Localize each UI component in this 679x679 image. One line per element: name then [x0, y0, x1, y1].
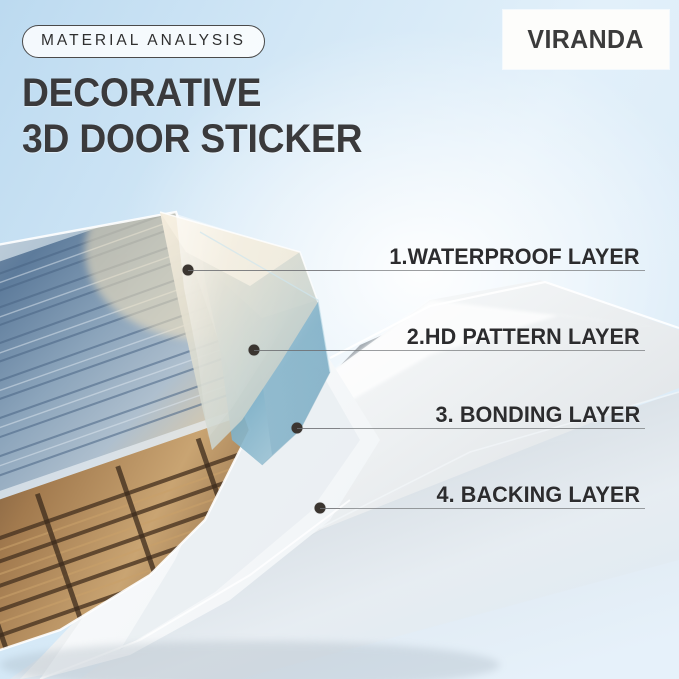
callout-rule-4 [340, 508, 645, 509]
callout-label-1: 1.WATERPROOF LAYER [390, 244, 640, 270]
title-line-2: 3D DOOR STICKER [22, 116, 362, 162]
callout-leader-line-1 [188, 270, 340, 271]
brand-logo-box: VIRANDA [503, 10, 669, 69]
brand-name: VIRANDA [528, 24, 644, 55]
page-title: DECORATIVE 3D DOOR STICKER [22, 70, 362, 163]
callout-rule-3 [340, 428, 645, 429]
poster-canvas: MATERIAL ANALYSIS DECORATIVE 3D DOOR STI… [0, 0, 679, 679]
eyebrow-badge: MATERIAL ANALYSIS [22, 25, 265, 58]
callout-leader-line-2 [254, 350, 340, 351]
title-line-1: DECORATIVE [22, 71, 261, 115]
callout-leader-line-3 [297, 428, 340, 429]
callout-leader-line-4 [320, 508, 340, 509]
callout-label-3: 3. BONDING LAYER [435, 402, 640, 428]
callout-label-4: 4. BACKING LAYER [436, 482, 640, 508]
callout-rule-1 [340, 270, 645, 271]
callout-rule-2 [340, 350, 645, 351]
callout-label-2: 2.HD PATTERN LAYER [407, 324, 640, 350]
